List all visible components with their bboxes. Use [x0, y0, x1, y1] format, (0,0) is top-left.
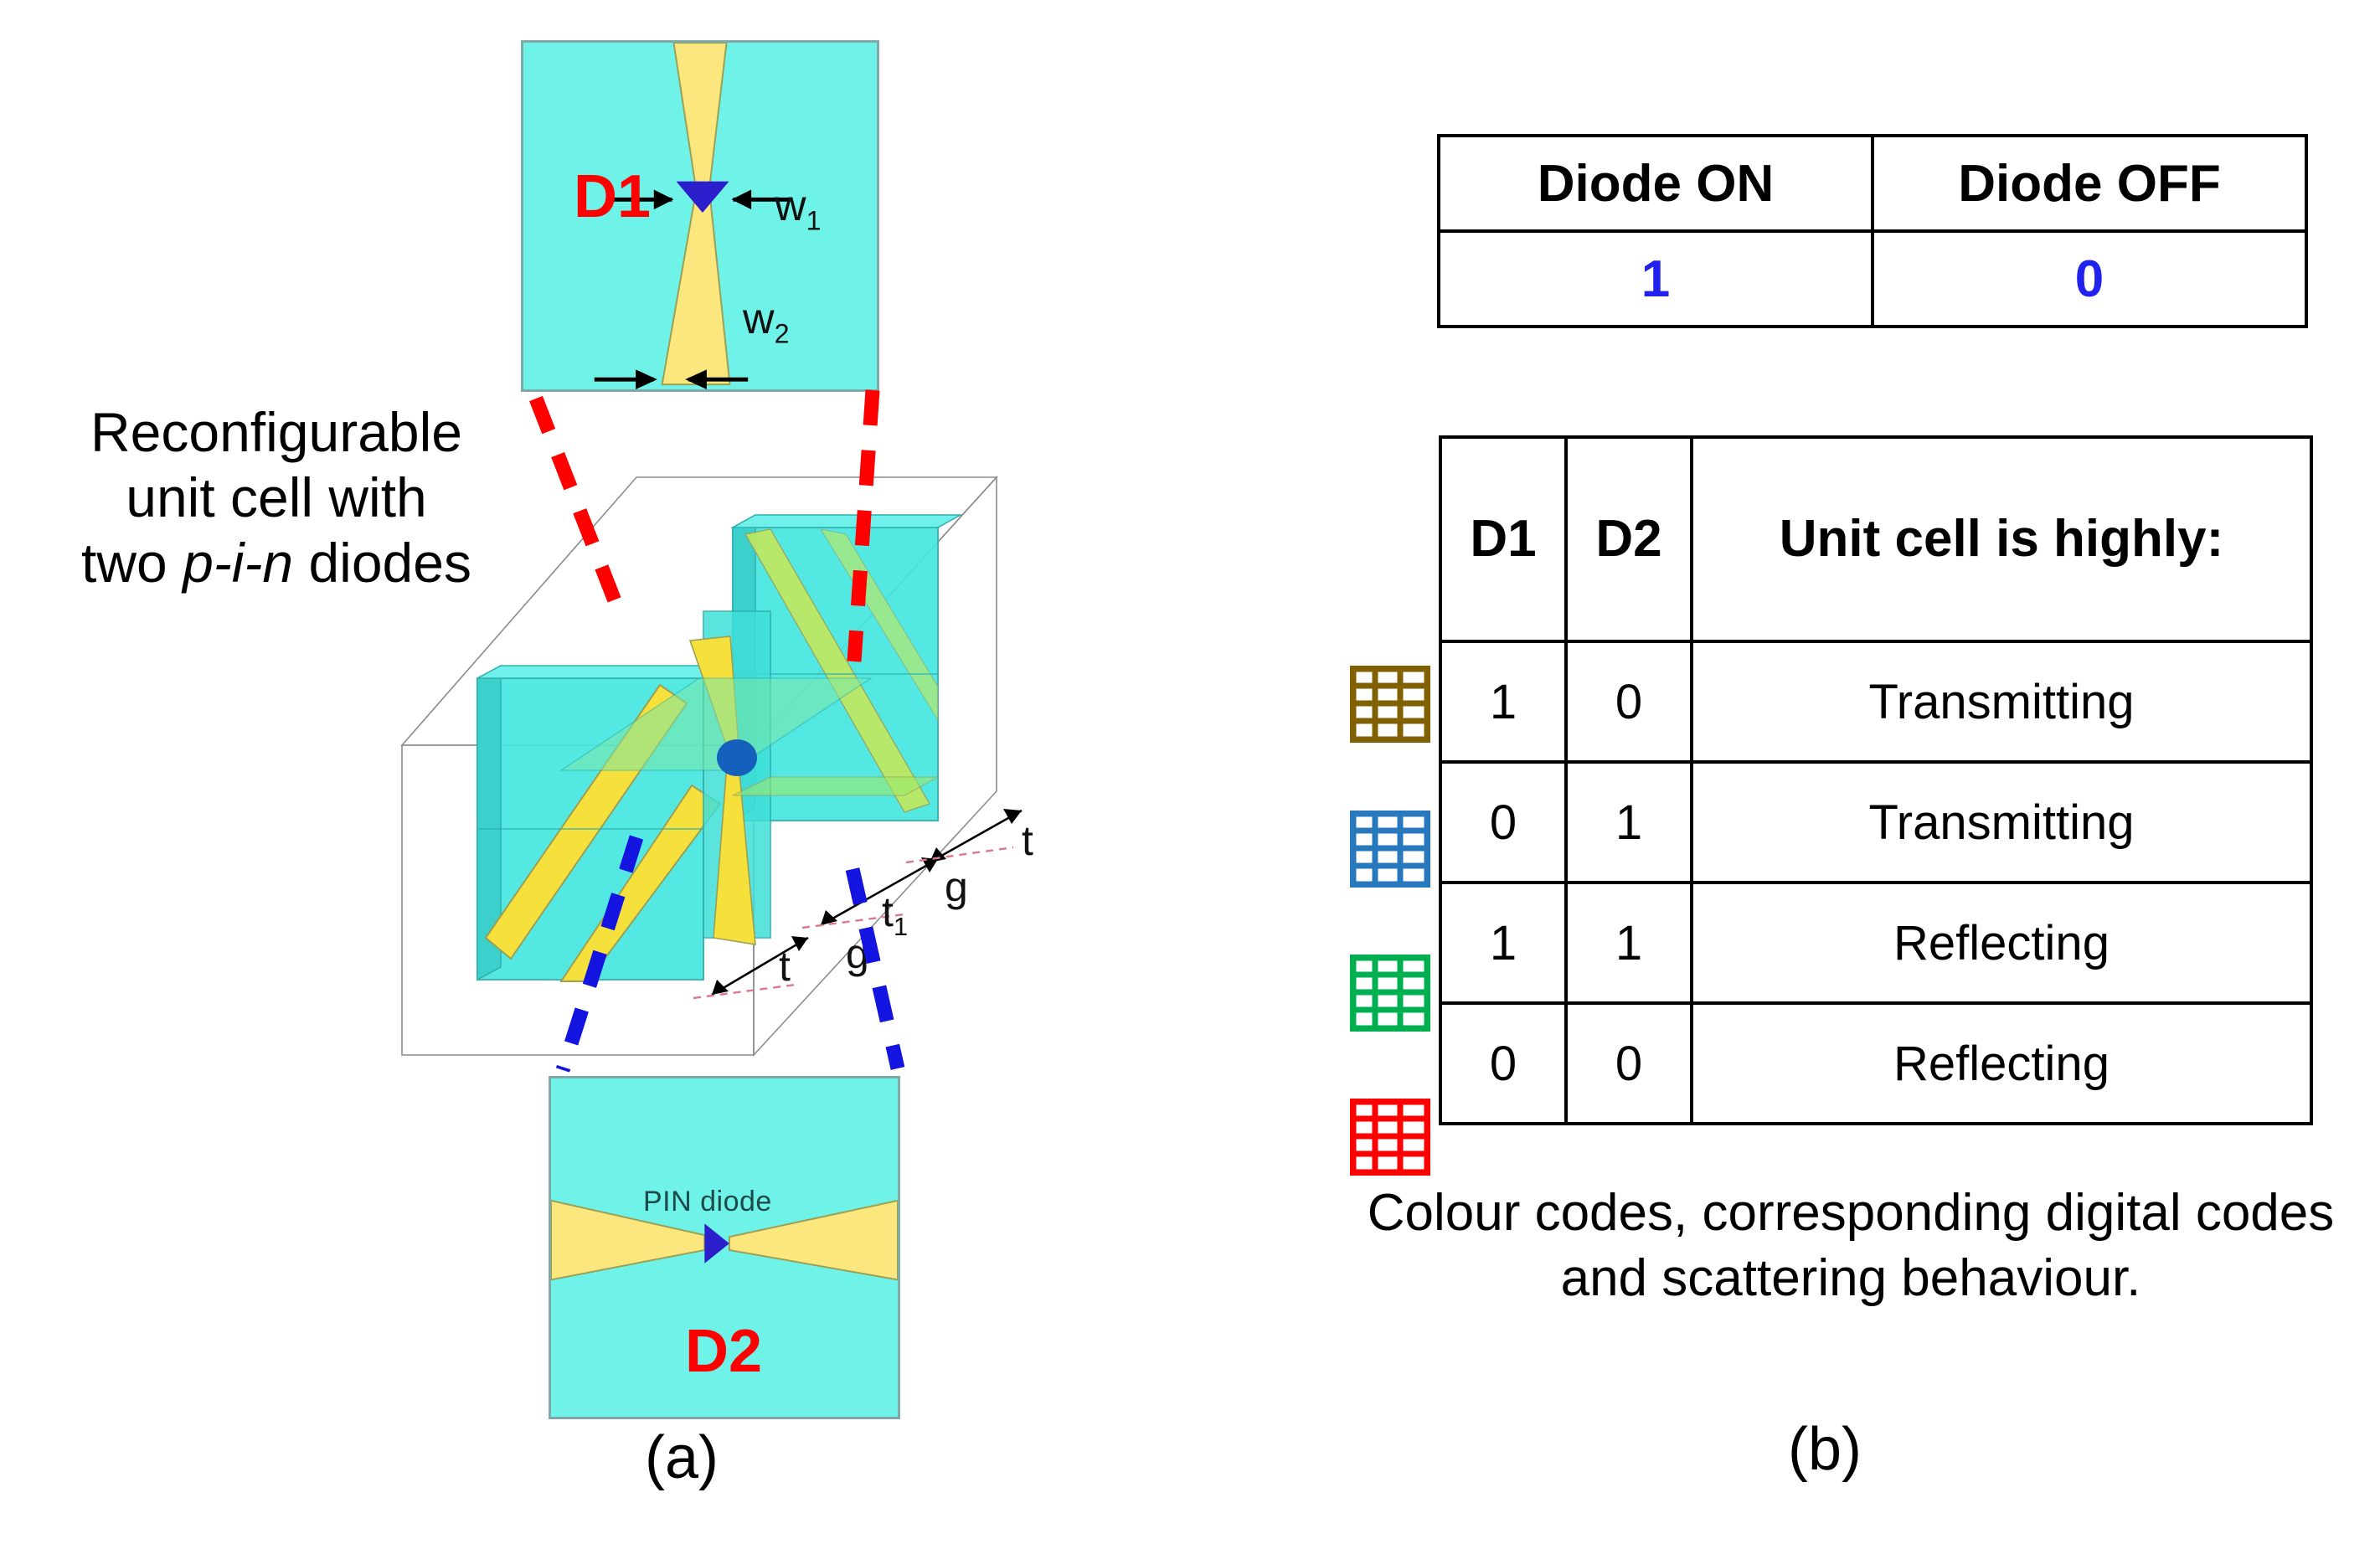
- cell-d2: 1: [1566, 762, 1692, 883]
- diode-on-value: 1: [1439, 231, 1873, 327]
- cell-d1: 1: [1440, 883, 1566, 1003]
- colour-code-caption: Colour codes, corresponding digital code…: [1319, 1181, 2380, 1310]
- swatch-grid-icon: [1350, 955, 1430, 1032]
- diode-off-header: Diode OFF: [1873, 136, 2306, 231]
- table-row: 0 1 Transmitting: [1440, 762, 2311, 883]
- colour-swatch: [1350, 1099, 1430, 1176]
- cell-behaviour: Transmitting: [1692, 641, 2311, 762]
- table-row: 1 1 Reflecting: [1440, 883, 2311, 1003]
- header-d2: D2: [1566, 437, 1692, 641]
- table-row: 0 0 Reflecting: [1440, 1003, 2311, 1124]
- cell-d2: 1: [1566, 883, 1692, 1003]
- header-d1: D1: [1440, 437, 1566, 641]
- subcaption-b: (b): [1788, 1415, 1862, 1484]
- swatch-grid-icon: [1350, 1099, 1430, 1176]
- figure-root: Reconfigurable unit cell with two p-i-n …: [0, 0, 2380, 1544]
- header-behaviour: Unit cell is highly:: [1692, 437, 2311, 641]
- diode-off-value: 0: [1873, 231, 2306, 327]
- cell-d2: 0: [1566, 1003, 1692, 1124]
- colour-swatch: [1350, 666, 1430, 743]
- colour-swatch: [1350, 955, 1430, 1032]
- swatch-grid-icon: [1350, 666, 1430, 743]
- cell-d1: 0: [1440, 1003, 1566, 1124]
- cell-d2: 0: [1566, 641, 1692, 762]
- subcaption-a: (a): [645, 1423, 719, 1492]
- colour-swatch: [1350, 811, 1430, 888]
- red-leader-left: [536, 399, 616, 603]
- blue-leader-right: [853, 869, 898, 1068]
- diode-state-table: Diode ON Diode OFF 1 0: [1437, 134, 2308, 328]
- red-leader-right: [854, 390, 873, 661]
- table-header-row: D1 D2 Unit cell is highly:: [1440, 437, 2311, 641]
- table-row: Diode ON Diode OFF: [1439, 136, 2306, 231]
- cell-d1: 1: [1440, 641, 1566, 762]
- unit-cell-truth-table: D1 D2 Unit cell is highly: 1 0 Transmitt…: [1439, 435, 2313, 1125]
- diode-on-header: Diode ON: [1439, 136, 1873, 231]
- cell-d1: 0: [1440, 762, 1566, 883]
- blue-leader-left: [563, 837, 636, 1070]
- table-row: 1 0: [1439, 231, 2306, 327]
- cell-behaviour: Reflecting: [1692, 883, 2311, 1003]
- table-row: 1 0 Transmitting: [1440, 641, 2311, 762]
- cell-behaviour: Reflecting: [1692, 1003, 2311, 1124]
- cell-behaviour: Transmitting: [1692, 762, 2311, 883]
- swatch-grid-icon: [1350, 811, 1430, 888]
